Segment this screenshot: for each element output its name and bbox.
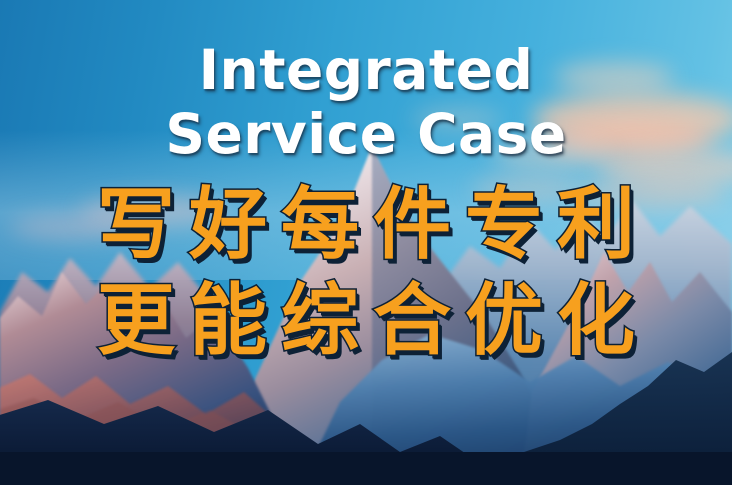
chinese-headline-line-1: 写好每件专利 (0, 186, 732, 264)
chinese-headline-line-2: 更能综合优化 (0, 282, 732, 360)
poster-canvas: Integrated Service Case 写好每件专利 更能综合优化 (0, 0, 732, 485)
english-title-line-2: Service Case (0, 104, 732, 166)
english-title-line-1: Integrated (0, 40, 732, 102)
title-overlay: Integrated Service Case 写好每件专利 更能综合优化 (0, 0, 732, 485)
